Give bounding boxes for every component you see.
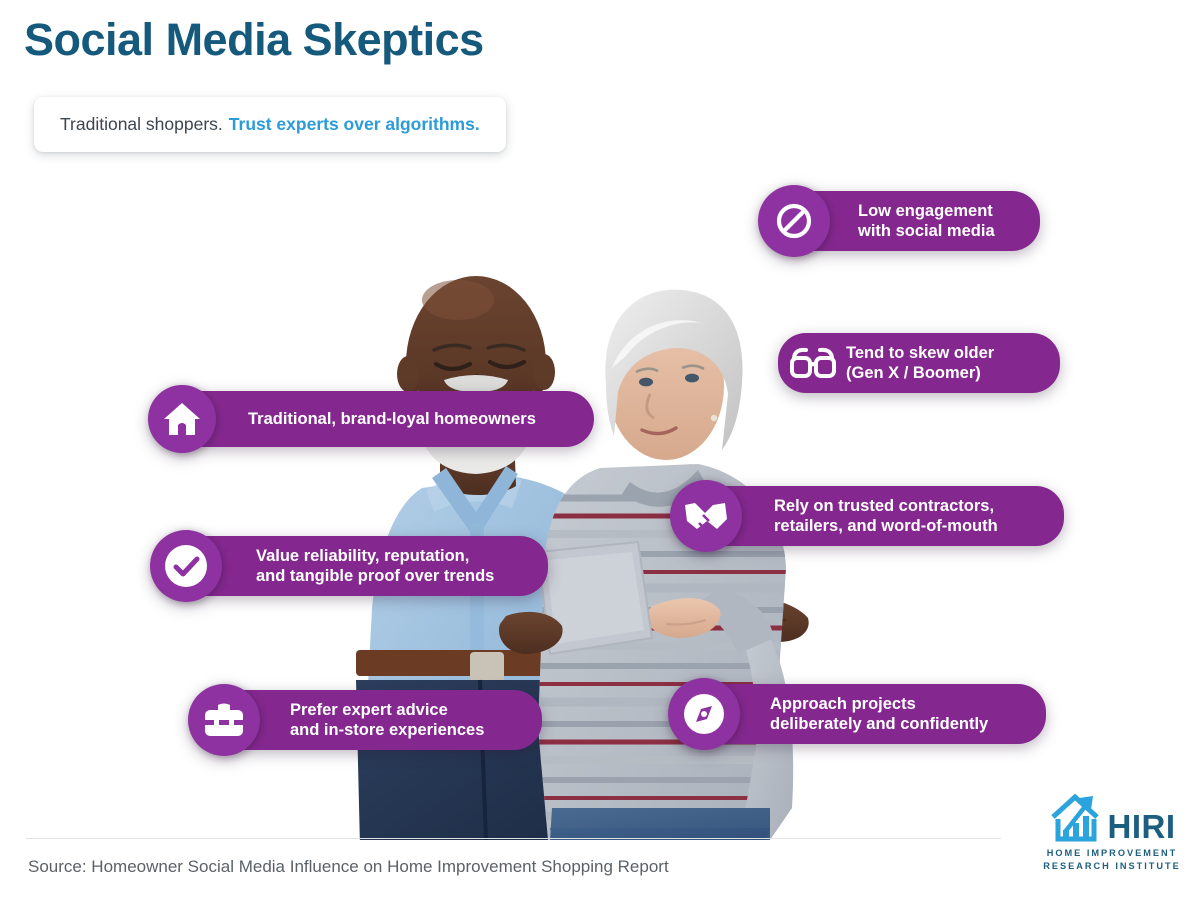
logo-tagline-line-2: RESEARCH INSTITUTE (1036, 860, 1188, 873)
eyeglasses-icon (782, 346, 846, 380)
badge-text: Rely on trusted contractors, retailers, … (774, 496, 1020, 536)
logo-mark-row: HIRI (1036, 790, 1188, 842)
badge-skew-older[interactable]: Tend to skew older (Gen X / Boomer) (778, 333, 1060, 393)
logo-tagline: HOME IMPROVEMENT RESEARCH INSTITUTE (1036, 847, 1188, 872)
check-circle-icon (150, 530, 222, 602)
logo-wordmark: HIRI (1108, 811, 1176, 842)
logo-tagline-line-1: HOME IMPROVEMENT (1036, 847, 1188, 860)
badge-line-1: Low engagement (858, 202, 993, 220)
subtitle-lead-text: Traditional shoppers. (60, 114, 223, 135)
badge-text: Prefer expert advice and in-store experi… (290, 700, 506, 740)
badge-line-2: (Gen X / Boomer) (846, 363, 994, 383)
badge-text: Tend to skew older (Gen X / Boomer) (846, 343, 1016, 383)
badge-line-2: with social media (858, 221, 995, 241)
badge-line-1: Approach projects (770, 695, 916, 713)
badge-text: Value reliability, reputation, and tangi… (256, 546, 516, 586)
badge-expert-advice[interactable]: Prefer expert advice and in-store experi… (190, 690, 542, 750)
subtitle-accent-text: Trust experts over algorithms. (229, 114, 480, 135)
badge-reliability[interactable]: Value reliability, reputation, and tangi… (152, 536, 548, 596)
badge-line-2: and in-store experiences (290, 720, 484, 740)
badge-homeowners[interactable]: Traditional, brand-loyal homeowners (150, 391, 594, 447)
footer-divider (26, 838, 1001, 839)
house-chart-arrow-icon (1049, 790, 1105, 842)
badge-approach[interactable]: Approach projects deliberately and confi… (670, 684, 1046, 744)
badge-line-1: Value reliability, reputation, (256, 547, 469, 565)
toolbox-icon (188, 684, 260, 756)
badge-line-1: Prefer expert advice (290, 701, 448, 719)
house-icon (148, 385, 216, 453)
badge-line-2: deliberately and confidently (770, 714, 988, 734)
no-entry-icon (758, 185, 830, 257)
hiri-logo: HIRI HOME IMPROVEMENT RESEARCH INSTITUTE (1036, 790, 1188, 882)
source-text: Source: Homeowner Social Media Influence… (28, 857, 669, 877)
badge-line-2: and tangible proof over trends (256, 566, 494, 586)
badge-text: Low engagement with social media (858, 201, 1015, 241)
subtitle-card: Traditional shoppers. Trust experts over… (34, 97, 506, 152)
handshake-icon (670, 480, 742, 552)
badge-text: Approach projects deliberately and confi… (770, 694, 1010, 734)
page-title: Social Media Skeptics (24, 14, 484, 66)
badge-trusted[interactable]: Rely on trusted contractors, retailers, … (672, 486, 1064, 546)
badge-line-1: Traditional, brand-loyal homeowners (248, 410, 536, 428)
infographic-canvas: Social Media Skeptics Traditional shoppe… (0, 0, 1200, 900)
badge-line-2: retailers, and word-of-mouth (774, 516, 998, 536)
badge-low-engagement[interactable]: Low engagement with social media (760, 191, 1040, 251)
compass-icon (668, 678, 740, 750)
badge-line-1: Tend to skew older (846, 344, 994, 362)
badge-text: Traditional, brand-loyal homeowners (248, 409, 558, 429)
badge-line-1: Rely on trusted contractors, (774, 497, 994, 515)
